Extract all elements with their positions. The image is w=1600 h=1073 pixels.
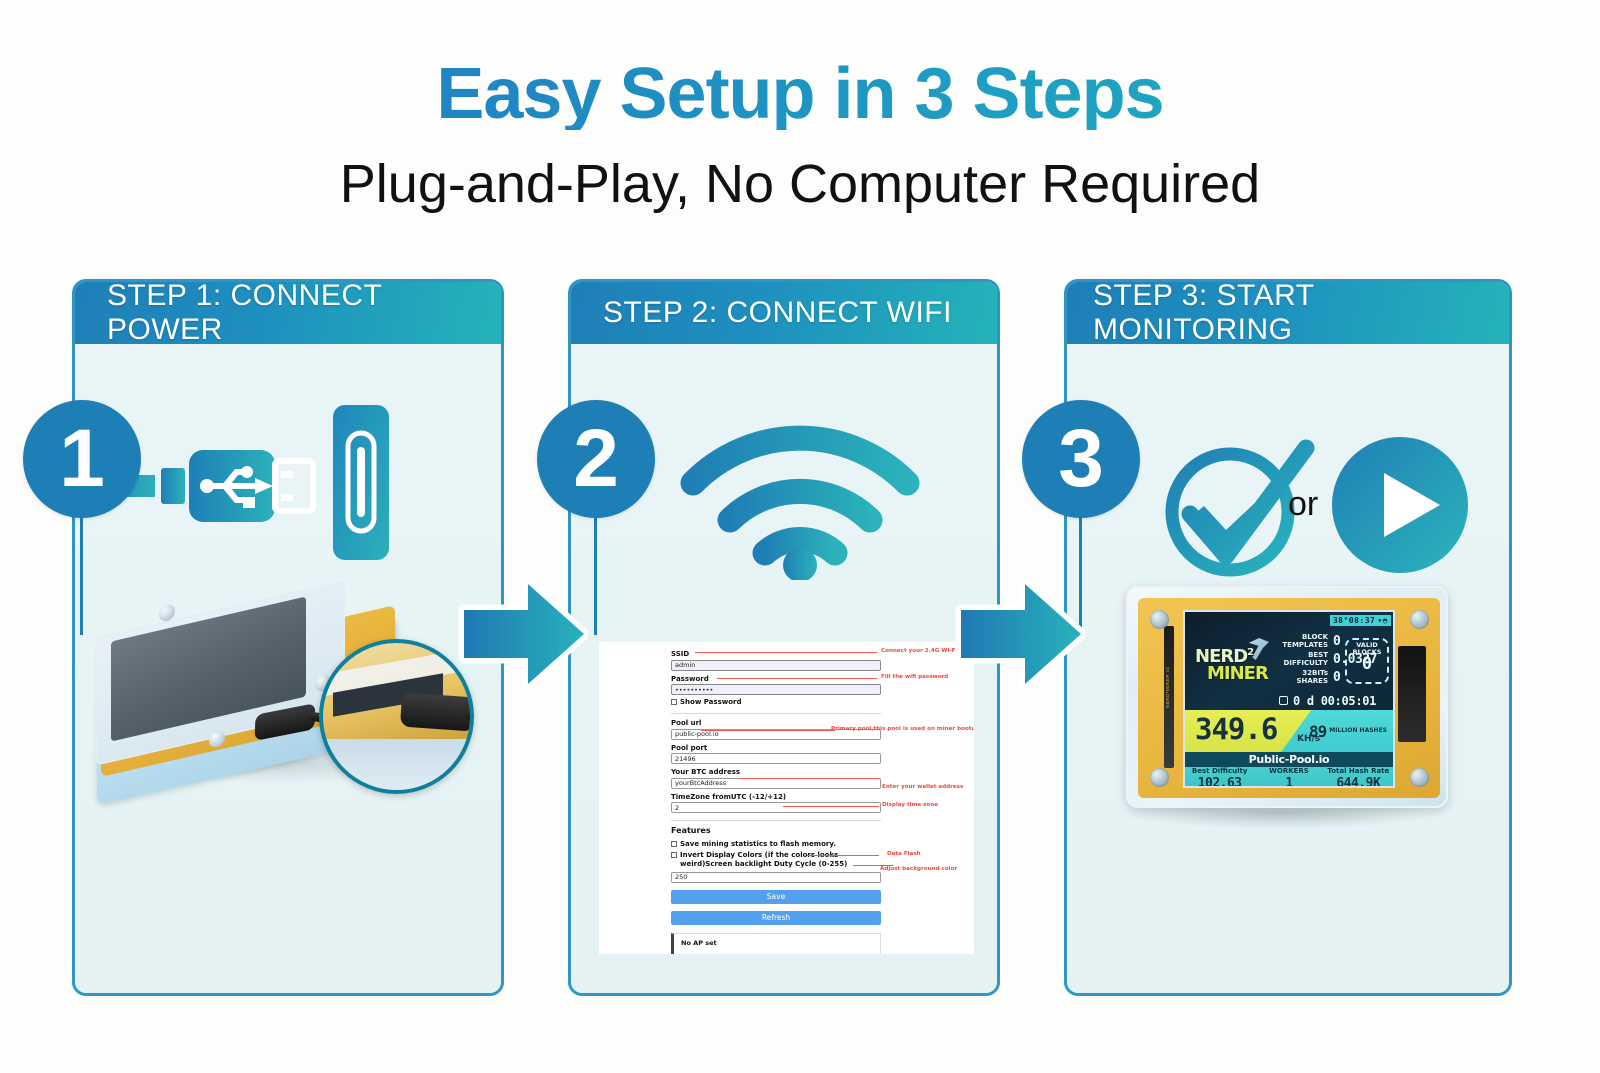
total-hashes-unit: MILLION HASHES — [1329, 728, 1387, 734]
refresh-button[interactable]: Refresh — [671, 911, 881, 925]
save-stats-checkbox[interactable]: Save mining statistics to flash memory. — [671, 840, 881, 848]
invert-colors-checkbox[interactable]: Invert Display Colors (if the colors loo… — [671, 851, 881, 869]
total-hashrate: Total Hash Rate 644.9K — [1324, 767, 1393, 788]
step-1-panel: STEP 1: CONNECT POWER Connect USB — [72, 279, 504, 996]
total-hashrate-label: Total Hash Rate — [1324, 767, 1393, 775]
btc-address-label: Your BTC address — [671, 768, 881, 776]
timezone-input[interactable]: 2 — [671, 802, 881, 813]
status-bar: 38°08:37 ▾◓ — [1330, 615, 1391, 626]
checkbox-icon[interactable] — [671, 852, 677, 858]
timezone-label: TimeZone fromUTC (-12/+12) — [671, 793, 881, 801]
step-2-number-badge: 2 — [537, 400, 655, 518]
step-2-panel: STEP 2: CONNECT WIFI SSID admin Password… — [568, 279, 1000, 996]
step-1-header: STEP 1: CONNECT POWER — [75, 282, 501, 344]
page-title: Easy Setup in 3 Steps — [0, 58, 1600, 130]
annotation-btc: Enter your wallet address — [882, 784, 963, 790]
shares-value: 0 — [1333, 670, 1340, 685]
usb-connector-icon — [95, 395, 425, 570]
divider — [671, 713, 881, 714]
checkbox-icon[interactable] — [671, 841, 677, 847]
annotation-timezone: Display time zone — [882, 802, 938, 808]
annotation-background: Adjust background color — [880, 866, 957, 872]
step-2-header: STEP 2: CONNECT WIFI — [571, 282, 997, 344]
wifi-status-icon: ▾◓ — [1377, 616, 1388, 625]
play-button-icon[interactable] — [1330, 435, 1470, 575]
workers: WORKERS 1 — [1254, 767, 1323, 788]
show-password-checkbox[interactable]: Show Password — [671, 698, 881, 706]
flow-arrow-1 — [458, 578, 588, 690]
duty-cycle-input[interactable]: 250 — [671, 872, 881, 883]
ssid-input[interactable]: admin — [671, 660, 881, 671]
save-button[interactable]: Save — [671, 890, 881, 904]
annotation-pool-url: Primary pool,this pool is used on miner … — [831, 726, 974, 732]
valid-blocks-box: VALID BLOCKS 0 — [1345, 638, 1389, 684]
logo-miner: MINER — [1207, 665, 1268, 682]
workers-label: WORKERS — [1254, 767, 1323, 775]
step-3-header: STEP 3: START MONITORING — [1067, 282, 1509, 344]
pool-port-input[interactable]: 21496 — [671, 753, 881, 764]
save-stats-label: Save mining statistics to flash memory. — [680, 840, 836, 848]
nerdminer-logo: NERD2 MINER — [1195, 648, 1268, 682]
ap-status-note: No AP set — [671, 933, 881, 955]
step-1-badge-stem — [80, 515, 83, 635]
nerdminer-usb-photo — [87, 591, 497, 831]
shares-label: 32BITs SHARES — [1280, 670, 1328, 685]
workers-value: 1 — [1254, 776, 1323, 788]
step-2-badge-stem — [594, 515, 597, 635]
step-3-panel: STEP 3: START MONITORING NERD*MINER v2 3… — [1064, 279, 1512, 996]
annotation-ssid: Connect your 2.4G Wi-Fi — [881, 648, 957, 654]
wifi-signal-icon — [675, 415, 925, 580]
pool-port-label: Pool port — [671, 744, 881, 752]
or-label: or — [1288, 485, 1318, 524]
miner-lcd-screen: 38°08:37 ▾◓ NERD2 MINER BLOCK TEMPLATES … — [1183, 610, 1395, 788]
valid-blocks-value: 0 — [1347, 656, 1387, 673]
magnifier-inset — [319, 639, 474, 794]
annotation-data-flash: Data Flash — [887, 851, 921, 857]
step-1-number-badge: 1 — [23, 400, 141, 518]
pool-best-difficulty-label: Best Difficulty — [1185, 767, 1254, 775]
best-difficulty-label: BEST DIFFICULTY — [1280, 652, 1328, 667]
pool-name: Public-Pool.io — [1185, 752, 1393, 767]
checkbox-icon[interactable] — [671, 699, 677, 705]
page-subtitle: Plug-and-Play, No Computer Required — [0, 157, 1600, 211]
total-hashes-value: 89 — [1309, 722, 1326, 741]
step-3-number-badge: 3 — [1022, 400, 1140, 518]
pool-best-difficulty: Best Difficulty 102.63 — [1185, 767, 1254, 788]
uptime-value: 0 d 00:05:01 — [1293, 694, 1376, 708]
password-input[interactable]: •••••••••• — [671, 684, 881, 695]
total-hashes: 89 MILLION HASHES — [1309, 722, 1387, 741]
clock-icon — [1279, 696, 1288, 705]
status-time: 38°08:37 — [1333, 616, 1376, 625]
invert-colors-label: Invert Display Colors (if the colors loo… — [680, 851, 881, 869]
hashrate-value: 349.6 — [1195, 712, 1277, 746]
pcb-silkscreen-text: NERD*MINER v2 — [1165, 648, 1170, 708]
btc-address-input[interactable]: yourBtcAddress — [671, 778, 881, 789]
divider-2 — [671, 820, 881, 821]
flow-arrow-2 — [955, 578, 1085, 690]
annotation-password: Fill the wifi password — [881, 674, 948, 680]
pool-stats-row: Best Difficulty 102.63 WORKERS 1 Total H… — [1185, 767, 1393, 788]
features-heading: Features — [671, 826, 881, 835]
block-templates-label: BLOCK TEMPLATES — [1280, 634, 1328, 649]
logo-superscript: 2 — [1247, 647, 1253, 658]
show-password-label: Show Password — [680, 698, 741, 706]
pool-best-difficulty-value: 102.63 — [1185, 776, 1254, 788]
total-hashrate-value: 644.9K — [1324, 776, 1393, 788]
block-templates-value: 0 — [1333, 634, 1340, 649]
wifi-config-form: SSID admin Password •••••••••• Show Pass… — [599, 642, 974, 954]
nerdminer-display-photo: NERD*MINER v2 38°08:37 ▾◓ NERD2 MINER — [1091, 574, 1491, 844]
